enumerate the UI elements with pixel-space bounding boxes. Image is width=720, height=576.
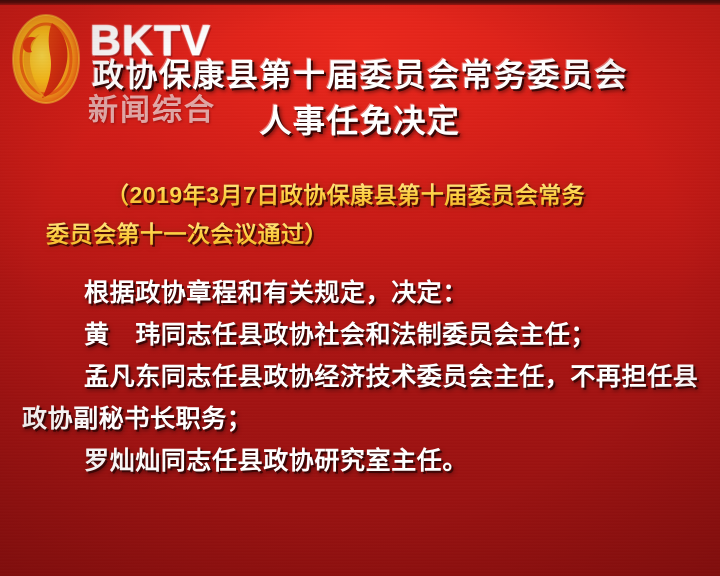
body-copy-block: 根据政协章程和有关规定，决定： 黄 玮同志任县政协社会和法制委员会主任； 孟凡东… bbox=[0, 272, 720, 482]
body-line-4: 政协副秘书长职务； bbox=[22, 398, 698, 440]
headline-block: 政协保康县第十届委员会常务委员会 人事任免决定 bbox=[0, 52, 720, 144]
headline-line-2: 人事任免决定 bbox=[0, 98, 720, 144]
subtitle-block: （2019年3月7日政协保康县第十届委员会常务 委员会第十一次会议通过） bbox=[0, 176, 720, 254]
top-edge-strip bbox=[0, 0, 720, 5]
body-line-5: 罗灿灿同志任县政协研究室主任。 bbox=[22, 440, 698, 482]
subtitle-line-2: 委员会第十一次会议通过） bbox=[46, 215, 674, 254]
subtitle-line-1: （2019年3月7日政协保康县第十届委员会常务 bbox=[46, 176, 674, 215]
headline-line-1: 政协保康县第十届委员会常务委员会 bbox=[0, 52, 720, 98]
broadcast-slate: BKTV 新闻综合 政协保康县第十届委员会常务委员会 人事任免决定 （2019年… bbox=[0, 0, 720, 576]
body-line-1: 根据政协章程和有关规定，决定： bbox=[22, 272, 698, 314]
body-line-3: 孟凡东同志任县政协经济技术委员会主任，不再担任县 bbox=[22, 356, 698, 398]
body-line-2: 黄 玮同志任县政协社会和法制委员会主任； bbox=[22, 314, 698, 356]
